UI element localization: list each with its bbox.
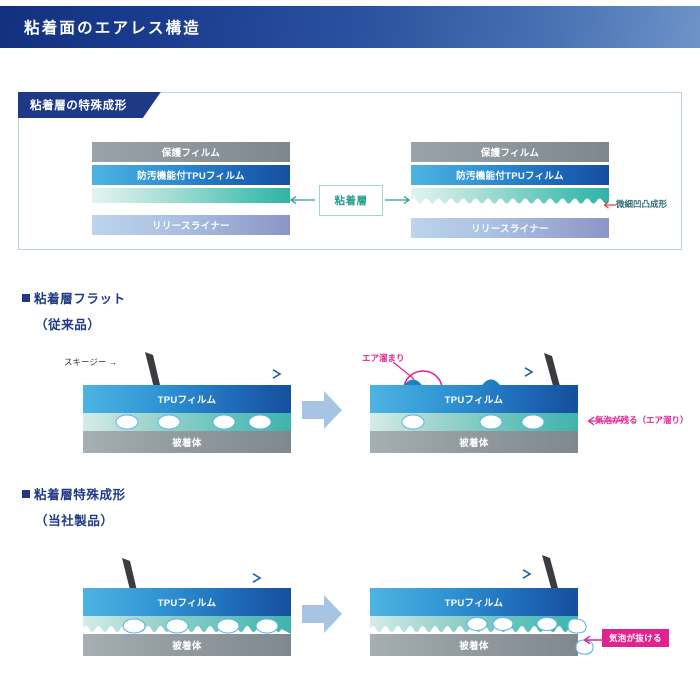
bubble-remain-label: 気泡が残る（エア溜り） [595, 414, 689, 426]
page-header: 粘着面のエアレス構造 [0, 6, 700, 48]
escaping-bubbles-s2r [370, 588, 578, 656]
section1-heading-line1: 粘着層フラット [22, 288, 126, 307]
panel-tab: 粘着層の特殊成形 [18, 92, 161, 118]
section2-before-stack: TPUフィルム 被着体 [83, 588, 291, 656]
layer-protect-film-left: 保護フィルム [92, 142, 290, 162]
arrow-to-right-stack-icon [385, 194, 413, 206]
layer-protect-film-right: 保護フィルム [411, 142, 609, 162]
layer-adhesive-left [92, 188, 290, 203]
micro-texture-arrow-icon [602, 200, 616, 210]
bullet-square-icon [22, 294, 30, 302]
section1-after-stack: TPUフィルム 被着体 [370, 385, 578, 453]
section2-heading-line1: 粘着層特殊成形 [22, 484, 126, 503]
squeegee-label: スキージー → [64, 356, 117, 368]
glide-direction-arrow-3-icon [148, 572, 266, 584]
panel-tab-label: 粘着層の特殊成形 [30, 97, 127, 113]
layer-tpu-film-right: 防汚機能付TPUフィルム [411, 165, 609, 185]
adhesive-layer-callout: 粘着層 [319, 185, 383, 216]
section1-before-stack: TPUフィルム 被着体 [83, 385, 291, 453]
section2-heading: 粘着層特殊成形 （当社製品） [22, 484, 126, 529]
layer-release-liner-right: リリースライナー [411, 218, 609, 238]
transition-arrow-1-icon [300, 388, 344, 432]
layer-release-liner-left: リリースライナー [92, 215, 290, 235]
layer-adhesive-right [411, 188, 609, 212]
textured-adhesive-and-bubbles-s2l [83, 588, 291, 656]
glide-direction-arrow-2-icon [430, 366, 538, 378]
section1-heading-line2: （従来品） [35, 314, 126, 333]
trapped-bubbles-s1l [83, 385, 291, 453]
bullet-square-icon-2 [22, 490, 30, 498]
surface-bumps-s1r [370, 385, 578, 453]
glide-direction-arrow-icon [174, 368, 286, 380]
transition-arrow-2-icon [300, 592, 344, 636]
section2-after-stack: TPUフィルム 被着体 [370, 588, 578, 656]
arrow-to-left-stack-icon [287, 194, 315, 206]
section2-heading-line2: （当社製品） [35, 510, 126, 529]
section1-heading: 粘着層フラット （従来品） [22, 288, 126, 333]
layer-tpu-film-left: 防汚機能付TPUフィルム [92, 165, 290, 185]
page-title: 粘着面のエアレス構造 [24, 16, 201, 38]
bubble-escape-label: 気泡が抜ける [602, 629, 669, 647]
glide-direction-arrow-4-icon [418, 568, 536, 580]
page-root: 粘着面のエアレス構造 粘着層の特殊成形 保護フィルム 防汚機能付TPUフィルム … [0, 0, 700, 700]
stack-right: 保護フィルム 防汚機能付TPUフィルム リリースライナー [411, 142, 609, 241]
adhesive-layer-callout-label: 粘着層 [335, 193, 368, 208]
stack-left: 保護フィルム 防汚機能付TPUフィルム リリースライナー [92, 142, 290, 238]
micro-texture-label: 微細凹凸成形 [616, 198, 667, 210]
wavy-adhesive-shape [411, 188, 609, 212]
